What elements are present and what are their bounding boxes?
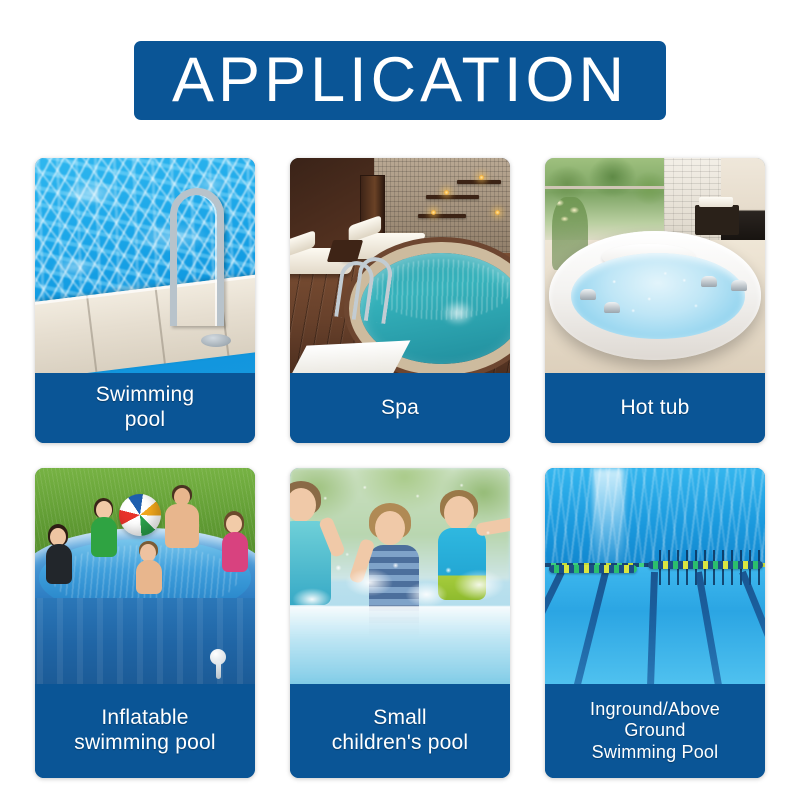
jet-faucet-icon — [580, 289, 596, 300]
card-caption: Small children's pool — [290, 684, 510, 778]
lane-divider — [549, 565, 637, 573]
lane-divider — [648, 561, 762, 569]
wall-shelf — [457, 180, 501, 184]
candle-icon — [495, 210, 500, 215]
spa-icon — [290, 158, 510, 373]
caption-text: Inground/Above Ground Swimming Pool — [590, 699, 720, 764]
card-spa[interactable]: Spa — [290, 158, 510, 443]
card-inground-above-ground-swimming-pool[interactable]: Inground/Above Ground Swimming Pool — [545, 468, 765, 778]
torso — [136, 560, 162, 594]
candle-icon — [431, 210, 436, 215]
card-caption: Inground/Above Ground Swimming Pool — [545, 684, 765, 778]
caption-text: Hot tub — [620, 396, 689, 421]
coping-joint — [154, 287, 165, 364]
stool-with-towels — [695, 205, 739, 235]
caption-text: Small children's pool — [332, 706, 469, 755]
application-poster: APPLICATION Swimming pool — [0, 0, 800, 800]
caption-text: Inflatable swimming pool — [74, 706, 215, 755]
beach-ball-icon — [119, 494, 161, 536]
pool-handrail-icon — [35, 158, 255, 373]
pool-valve-icon — [210, 649, 226, 665]
hot-tub-icon — [545, 158, 765, 373]
water-reflection — [441, 300, 475, 326]
coping-joint — [86, 296, 97, 373]
wall-shelf — [426, 195, 479, 199]
torso — [91, 517, 117, 557]
children-pool-icon — [290, 468, 510, 684]
application-grid: Swimming pool — [35, 158, 765, 778]
card-caption: Hot tub — [545, 373, 765, 443]
pool-wall — [35, 598, 255, 684]
jet-faucet-icon — [731, 280, 747, 291]
spa-towel — [290, 340, 410, 373]
handrail — [170, 188, 224, 326]
title-banner: APPLICATION — [134, 41, 666, 120]
torso — [46, 544, 72, 584]
water-droplets — [290, 468, 510, 684]
jet-faucet-icon — [701, 276, 717, 287]
card-small-childrens-pool[interactable]: Small children's pool — [290, 468, 510, 778]
window-mullion — [545, 186, 668, 189]
torso — [222, 532, 248, 572]
tub-water — [571, 253, 745, 339]
caption-text: Spa — [381, 396, 419, 421]
light-beam — [593, 468, 624, 567]
card-caption: Swimming pool — [35, 373, 255, 443]
card-swimming-pool[interactable]: Swimming pool — [35, 158, 255, 443]
card-inflatable-swimming-pool[interactable]: Inflatable swimming pool — [35, 468, 255, 778]
torso — [165, 504, 199, 548]
card-caption: Inflatable swimming pool — [35, 684, 255, 778]
wall-shelf — [418, 214, 466, 218]
page-title: APPLICATION — [172, 49, 628, 112]
card-caption: Spa — [290, 373, 510, 443]
caption-text: Swimming pool — [96, 383, 194, 432]
lap-pool-icon — [545, 468, 765, 684]
card-hot-tub[interactable]: Hot tub — [545, 158, 765, 443]
jet-faucet-icon — [604, 302, 620, 313]
side-table — [326, 240, 362, 262]
inflatable-pool-icon — [35, 468, 255, 684]
